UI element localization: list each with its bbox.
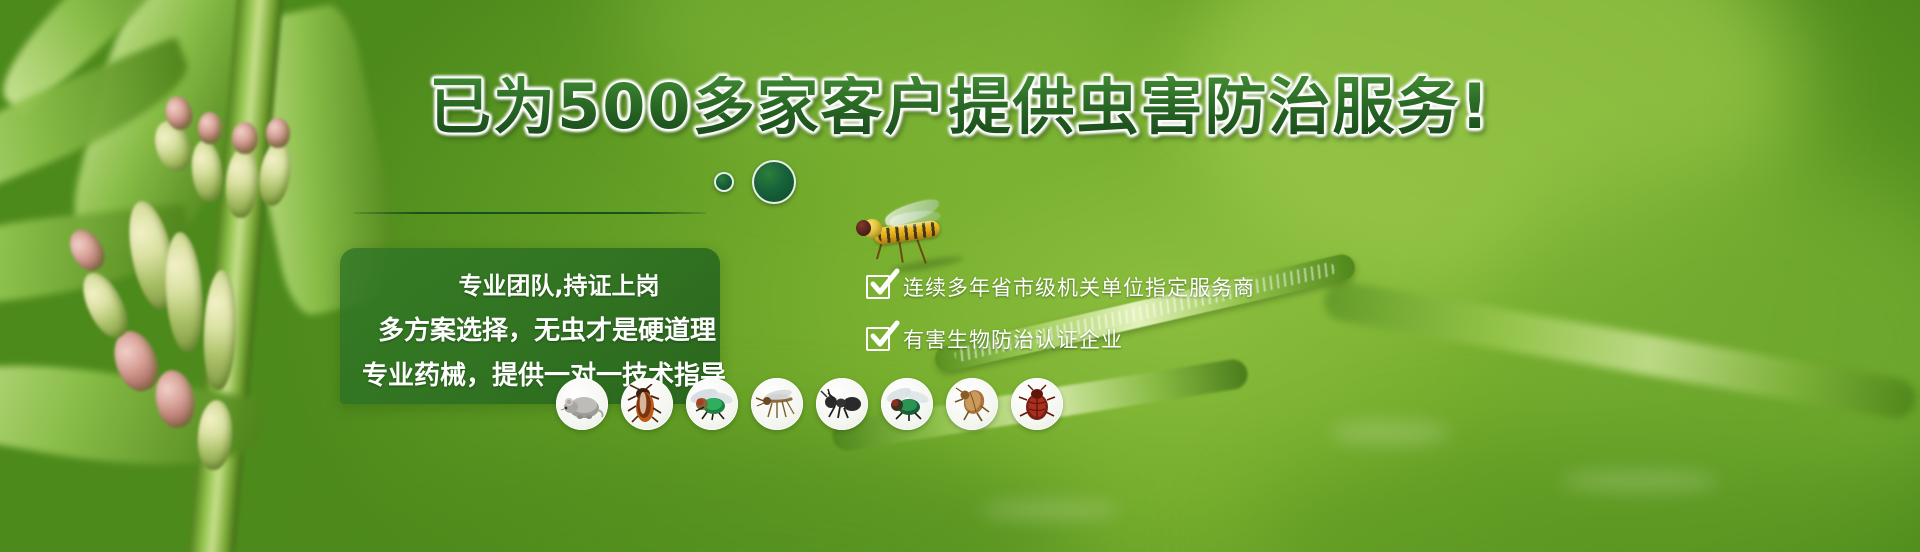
bedbug-icon[interactable] — [1011, 378, 1063, 430]
banner-headline: 已为500多家客户提供虫害防治服务! — [0, 76, 1920, 138]
credentials-list: 连续多年省市级机关单位指定服务商 有害生物防治认证企业 — [866, 272, 1255, 354]
mosquito-icon[interactable] — [751, 378, 803, 430]
small-dot-icon — [714, 172, 734, 192]
list-item: 有害生物防治认证企业 — [866, 324, 1255, 354]
hoverfly-icon — [846, 198, 966, 262]
credential-label: 连续多年省市级机关单位指定服务商 — [903, 272, 1255, 302]
checkbox-checked-icon — [866, 275, 890, 299]
credential-label: 有害生物防治认证企业 — [903, 324, 1123, 354]
ant-icon[interactable] — [816, 378, 868, 430]
list-item: 连续多年省市级机关单位指定服务商 — [866, 272, 1255, 302]
pest-control-hero-banner: 已为500多家客户提供虫害防治服务! 专业团队,持证上岗 多方案选择，无虫才是硬… — [0, 0, 1920, 552]
decorative-dots — [710, 158, 830, 208]
mouse-icon[interactable] — [556, 378, 608, 430]
feature-line-1: 专业团队,持证上岗 — [328, 266, 738, 301]
feature-line-2: 多方案选择，无虫才是硬道理 — [328, 310, 738, 347]
pest-icon-row — [556, 378, 1063, 430]
flea-icon[interactable] — [946, 378, 998, 430]
checkbox-checked-icon — [866, 327, 890, 351]
housefly-icon[interactable] — [881, 378, 933, 430]
blowfly-icon[interactable] — [686, 378, 738, 430]
large-dot-icon — [752, 160, 796, 204]
cockroach-icon[interactable] — [621, 378, 673, 430]
divider-line — [354, 212, 706, 214]
